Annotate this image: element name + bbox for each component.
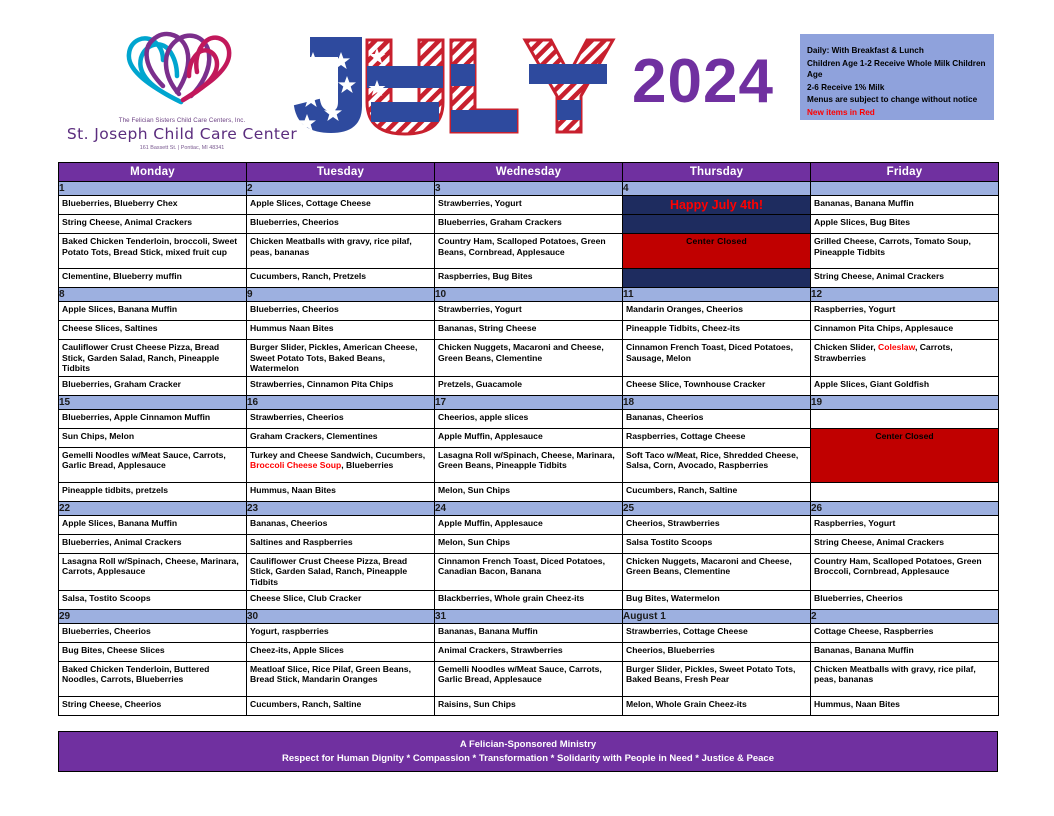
meal-cell: Graham Crackers, Clementines (247, 428, 435, 447)
meal-cell: Strawberries, Cottage Cheese (623, 623, 811, 642)
meal-cell: Strawberries, Yogurt (435, 196, 623, 215)
meal-cell: Grilled Cheese, Carrots, Tomato Soup, Pi… (811, 234, 999, 269)
calendar-meal-row: Blueberries, Blueberry ChexApple Slices,… (59, 196, 999, 215)
meal-cell: Apple Slices, Banana Muffin (59, 515, 247, 534)
calendar-page: The Felician Sisters Child Care Centers,… (0, 0, 1054, 816)
meal-cell: String Cheese, Cheerios (59, 696, 247, 715)
holiday-banner: Happy July 4th! (623, 196, 811, 215)
meal-cell: Cucumbers, Ranch, Pretzels (247, 269, 435, 288)
date-cell: 25 (623, 501, 811, 515)
date-cell: 18 (623, 395, 811, 409)
date-cell: 11 (623, 288, 811, 302)
july-wordart (283, 28, 623, 146)
meal-cell: Raspberries, Yogurt (811, 302, 999, 321)
date-cell: 24 (435, 501, 623, 515)
meal-cell: Clementine, Blueberry muffin (59, 269, 247, 288)
meal-cell: String Cheese, Animal Crackers (811, 534, 999, 553)
new-item-text: Broccoli Cheese Soup (250, 460, 341, 470)
calendar-meal-row: Blueberries, Animal CrackersSaltines and… (59, 534, 999, 553)
meal-cell: Bug Bites, Cheese Slices (59, 642, 247, 661)
meal-cell: Cheese Slices, Saltines (59, 321, 247, 340)
meal-cell: Blueberries, Cheerios (811, 590, 999, 609)
meal-cell: Bananas, Banana Muffin (811, 196, 999, 215)
date-cell: 29 (59, 609, 247, 623)
holiday-filler (623, 269, 811, 288)
meal-cell: Melon, Sun Chips (435, 534, 623, 553)
calendar-meal-row: Salsa, Tostito ScoopsCheese Slice, Club … (59, 590, 999, 609)
meal-cell: Hummus Naan Bites (247, 321, 435, 340)
meal-cell: Blueberries, Graham Crackers (435, 215, 623, 234)
meal-cell: Blueberries, Cheerios (59, 623, 247, 642)
meal-cell: Apple Slices, Giant Goldfish (811, 376, 999, 395)
meal-cell: Cheese Slice, Townhouse Cracker (623, 376, 811, 395)
calendar-date-row: 1516171819 (59, 395, 999, 409)
meal-cell: Bananas, Banana Muffin (435, 623, 623, 642)
date-cell: 30 (247, 609, 435, 623)
date-cell: 23 (247, 501, 435, 515)
date-cell (811, 182, 999, 196)
calendar-meal-row: Clementine, Blueberry muffinCucumbers, R… (59, 269, 999, 288)
daily-info-box: Daily: With Breakfast & Lunch Children A… (800, 34, 994, 120)
meal-cell: Blackberries, Whole grain Cheez-its (435, 590, 623, 609)
meal-cell: Strawberries, Yogurt (435, 302, 623, 321)
meal-cell: Blueberries, Animal Crackers (59, 534, 247, 553)
calendar-date-row: 89101112 (59, 288, 999, 302)
calendar-meal-row: Blueberries, CheeriosYogurt, raspberries… (59, 623, 999, 642)
empty-meal-cell (811, 409, 999, 428)
date-cell: 12 (811, 288, 999, 302)
felician-hearts-logo-icon (107, 24, 257, 116)
day-header-tuesday: Tuesday (247, 163, 435, 182)
meal-cell: Blueberries, Graham Cracker (59, 376, 247, 395)
meal-cell: Pineapple Tidbits, Cheez-its (623, 321, 811, 340)
ministry-footer: A Felician-Sponsored Ministry Respect fo… (58, 731, 998, 772)
calendar-meal-row: Lasagna Roll w/Spinach, Cheese, Marinara… (59, 553, 999, 590)
calendar-meal-row: Baked Chicken Tenderloin, Buttered Noodl… (59, 661, 999, 696)
info-line-3: 2-6 Receive 1% Milk (807, 82, 988, 94)
meal-cell: Cheerios, Blueberries (623, 642, 811, 661)
year-label: 2024 (632, 46, 774, 117)
info-line-2: Children Age 1-2 Receive Whole Milk Chil… (807, 58, 988, 81)
meal-cell: Animal Crackers, Strawberries (435, 642, 623, 661)
date-cell: 26 (811, 501, 999, 515)
calendar-meal-row: Blueberries, Apple Cinnamon MuffinStrawb… (59, 409, 999, 428)
meal-cell: Soft Taco w/Meat, Rice, Shredded Cheese,… (623, 447, 811, 482)
meal-cell: Chicken Meatballs with gravy, rice pilaf… (247, 234, 435, 269)
meal-cell: Blueberries, Apple Cinnamon Muffin (59, 409, 247, 428)
center-closed-banner: Center Closed (623, 234, 811, 269)
meal-cell: Burger Slider, Pickles, American Cheese,… (247, 340, 435, 377)
day-header-monday: Monday (59, 163, 247, 182)
meal-cell: Burger Slider, Pickles, Sweet Potato Tot… (623, 661, 811, 696)
meal-cell: String Cheese, Animal Crackers (811, 269, 999, 288)
meal-cell: Raisins, Sun Chips (435, 696, 623, 715)
meal-cell: Hummus, Naan Bites (811, 696, 999, 715)
meal-cell: Apple Muffin, Applesauce (435, 515, 623, 534)
meal-cell: Lasagna Roll w/Spinach, Cheese, Marinara… (59, 553, 247, 590)
meal-cell: Turkey and Cheese Sandwich, Cucumbers, B… (247, 447, 435, 482)
meal-cell: Gemelli Noodles w/Meat Sauce, Carrots, G… (435, 661, 623, 696)
meal-cell: Sun Chips, Melon (59, 428, 247, 447)
info-line-1: Daily: With Breakfast & Lunch (807, 45, 988, 57)
meal-cell: Hummus, Naan Bites (247, 482, 435, 501)
meal-cell: Salsa, Tostito Scoops (59, 590, 247, 609)
calendar-meal-row: Blueberries, Graham CrackerStrawberries,… (59, 376, 999, 395)
meal-cell: Raspberries, Bug Bites (435, 269, 623, 288)
logo-org-line: The Felician Sisters Child Care Centers,… (119, 117, 246, 124)
day-header-thursday: Thursday (623, 163, 811, 182)
calendar-date-row: 293031August 12 (59, 609, 999, 623)
day-header-wednesday: Wednesday (435, 163, 623, 182)
meal-cell: Cucumbers, Ranch, Saltine (247, 696, 435, 715)
date-cell: 17 (435, 395, 623, 409)
calendar-meal-row: Bug Bites, Cheese SlicesCheez-its, Apple… (59, 642, 999, 661)
meal-cell: Country Ham, Scalloped Potatoes, Green B… (811, 553, 999, 590)
meal-cell: Bananas, Cheerios (247, 515, 435, 534)
logo-center-name: St. Joseph Child Care Center (67, 125, 297, 143)
meal-cell: String Cheese, Animal Crackers (59, 215, 247, 234)
meal-cell: Pretzels, Guacamole (435, 376, 623, 395)
meal-cell: Cottage Cheese, Raspberries (811, 623, 999, 642)
empty-meal-cell (811, 482, 999, 501)
center-closed-banner: Center Closed (811, 428, 999, 482)
calendar-header-row: MondayTuesdayWednesdayThursdayFriday (59, 163, 999, 182)
calendar-meal-row: Pineapple tidbits, pretzelsHummus, Naan … (59, 482, 999, 501)
date-cell: 2 (247, 182, 435, 196)
meal-cell: Baked Chicken Tenderloin, Buttered Noodl… (59, 661, 247, 696)
meal-cell: Yogurt, raspberries (247, 623, 435, 642)
meal-cell: Country Ham, Scalloped Potatoes, Green B… (435, 234, 623, 269)
holiday-filler (623, 215, 811, 234)
meal-cell: Strawberries, Cinnamon Pita Chips (247, 376, 435, 395)
date-cell: 16 (247, 395, 435, 409)
meal-cell: Cinnamon French Toast, Diced Potatoes, S… (623, 340, 811, 377)
date-cell: August 1 (623, 609, 811, 623)
meal-cell: Blueberries, Cheerios (247, 302, 435, 321)
info-line-new-items: New items in Red (807, 107, 988, 119)
calendar-meal-row: Cheese Slices, SaltinesHummus Naan Bites… (59, 321, 999, 340)
meal-cell: Raspberries, Cottage Cheese (623, 428, 811, 447)
calendar-meal-row: Baked Chicken Tenderloin, broccoli, Swee… (59, 234, 999, 269)
meal-cell: Apple Muffin, Applesauce (435, 428, 623, 447)
meal-cell: Chicken Slider, Coleslaw, Carrots, Straw… (811, 340, 999, 377)
meal-cell: Bananas, String Cheese (435, 321, 623, 340)
date-cell: 10 (435, 288, 623, 302)
meal-cell: Melon, Whole Grain Cheez-its (623, 696, 811, 715)
meal-cell: Apple Slices, Bug Bites (811, 215, 999, 234)
date-cell: 19 (811, 395, 999, 409)
meal-cell: Bug Bites, Watermelon (623, 590, 811, 609)
meal-cell: Blueberries, Cheerios (247, 215, 435, 234)
date-cell: 22 (59, 501, 247, 515)
calendar-meal-row: Cauliflower Crust Cheese Pizza, Bread St… (59, 340, 999, 377)
date-cell: 9 (247, 288, 435, 302)
date-cell: 15 (59, 395, 247, 409)
meal-cell: Melon, Sun Chips (435, 482, 623, 501)
calendar-meal-row: String Cheese, CheeriosCucumbers, Ranch,… (59, 696, 999, 715)
meal-cell: Bananas, Cheerios (623, 409, 811, 428)
info-line-4: Menus are subject to change without noti… (807, 94, 988, 106)
date-cell: 2 (811, 609, 999, 623)
page-header: The Felician Sisters Child Care Centers,… (0, 0, 1054, 160)
meal-cell: Pineapple tidbits, pretzels (59, 482, 247, 501)
meal-cell: Cheerios, apple slices (435, 409, 623, 428)
meal-cell: Chicken Meatballs with gravy, rice pilaf… (811, 661, 999, 696)
day-header-friday: Friday (811, 163, 999, 182)
calendar-meal-row: Apple Slices, Banana MuffinBananas, Chee… (59, 515, 999, 534)
date-cell: 8 (59, 288, 247, 302)
footer-line-1: A Felician-Sponsored Ministry (460, 738, 596, 752)
meal-cell: Bananas, Banana Muffin (811, 642, 999, 661)
meal-cell: Cauliflower Crust Cheese Pizza, Bread St… (247, 553, 435, 590)
meal-cell: Cinnamon French Toast, Diced Potatoes, C… (435, 553, 623, 590)
date-cell: 31 (435, 609, 623, 623)
meal-cell: Cinnamon Pita Chips, Applesauce (811, 321, 999, 340)
calendar-meal-row: Sun Chips, MelonGraham Crackers, Clement… (59, 428, 999, 447)
meal-cell: Blueberries, Blueberry Chex (59, 196, 247, 215)
meal-cell: Meatloaf Slice, Rice Pilaf, Green Beans,… (247, 661, 435, 696)
footer-line-2: Respect for Human Dignity * Compassion *… (282, 752, 774, 766)
meal-cell: Cheerios, Strawberries (623, 515, 811, 534)
meal-cell: Chicken Nuggets, Macaroni and Cheese, Gr… (623, 553, 811, 590)
calendar-date-row: 2223242526 (59, 501, 999, 515)
meal-cell: Cauliflower Crust Cheese Pizza, Bread St… (59, 340, 247, 377)
calendar-meal-row: Apple Slices, Banana MuffinBlueberries, … (59, 302, 999, 321)
logo-address: 161 Bassett St. | Pontiac, MI 48341 (140, 145, 224, 151)
date-cell: 3 (435, 182, 623, 196)
meal-cell: Baked Chicken Tenderloin, broccoli, Swee… (59, 234, 247, 269)
meal-cell: Strawberries, Cheerios (247, 409, 435, 428)
date-cell: 4 (623, 182, 811, 196)
date-cell: 1 (59, 182, 247, 196)
meal-cell: Salsa Tostito Scoops (623, 534, 811, 553)
meal-cell: Raspberries, Yogurt (811, 515, 999, 534)
meal-cell: Mandarin Oranges, Cheerios (623, 302, 811, 321)
meal-cell: Cheese Slice, Club Cracker (247, 590, 435, 609)
meal-cell: Saltines and Raspberries (247, 534, 435, 553)
meal-cell: Apple Slices, Banana Muffin (59, 302, 247, 321)
meal-cell: Apple Slices, Cottage Cheese (247, 196, 435, 215)
meal-cell: Lasagna Roll w/Spinach, Cheese, Marinara… (435, 447, 623, 482)
meal-cell: Cucumbers, Ranch, Saltine (623, 482, 811, 501)
organization-logo: The Felician Sisters Child Care Centers,… (62, 20, 302, 160)
meal-cell: Cheez-its, Apple Slices (247, 642, 435, 661)
menu-calendar-table: MondayTuesdayWednesdayThursdayFriday 123… (58, 162, 999, 716)
calendar-meal-row: String Cheese, Animal CrackersBlueberrie… (59, 215, 999, 234)
new-item-text: Coleslaw (878, 342, 915, 352)
calendar-date-row: 1234 (59, 182, 999, 196)
meal-cell: Gemelli Noodles w/Meat Sauce, Carrots, G… (59, 447, 247, 482)
meal-cell: Chicken Nuggets, Macaroni and Cheese, Gr… (435, 340, 623, 377)
